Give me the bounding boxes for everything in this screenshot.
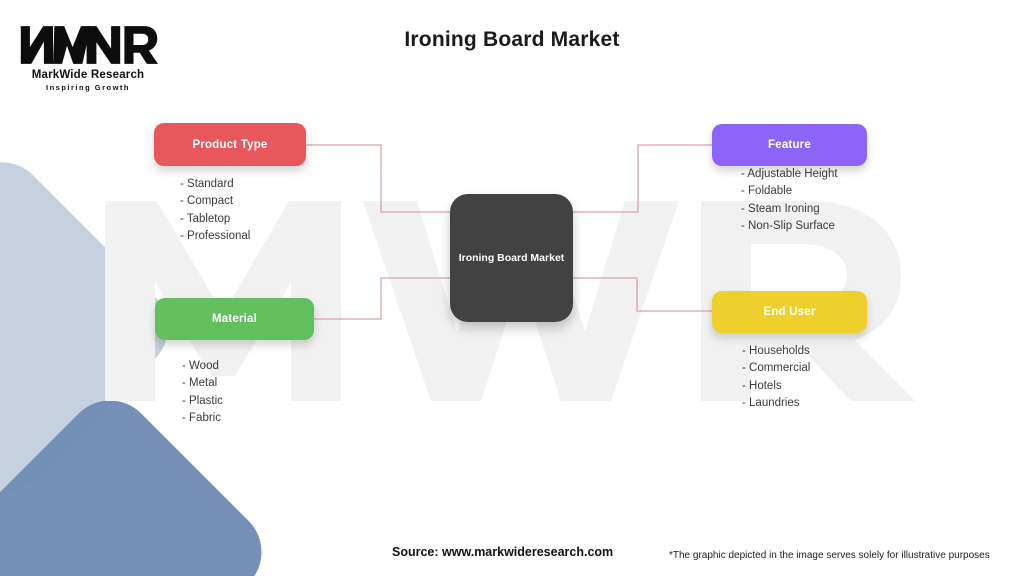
list-item: - Steam Ironing — [741, 201, 838, 218]
list-item: - Professional — [180, 228, 250, 245]
branch-node-product-type[interactable]: Product Type — [154, 123, 306, 166]
branch-list-feature: - Adjustable Height - Foldable - Steam I… — [741, 166, 838, 236]
logo-tagline: Inspiring Growth — [18, 83, 158, 92]
footer-disclaimer: *The graphic depicted in the image serve… — [669, 550, 990, 561]
branch-node-feature[interactable]: Feature — [712, 124, 867, 166]
list-item: - Non-Slip Surface — [741, 218, 838, 235]
logo-company-name: MarkWide Research — [18, 69, 158, 81]
page-title: Ironing Board Market — [0, 28, 1024, 52]
list-item: - Households — [742, 343, 810, 360]
branch-label-material: Material — [212, 313, 257, 325]
list-item: - Hotels — [742, 378, 810, 395]
decorative-square-dark — [0, 382, 280, 576]
connector-product-type-to-center — [306, 145, 450, 212]
footer-source: Source: www.markwideresearch.com — [392, 545, 613, 559]
list-item: - Wood — [182, 358, 223, 375]
branch-list-product-type: - Standard - Compact - Tabletop - Profes… — [180, 176, 250, 246]
list-item: - Metal — [182, 375, 223, 392]
list-item: - Laundries — [742, 395, 810, 412]
connector-material-to-center — [314, 278, 450, 319]
branch-label-feature: Feature — [768, 139, 811, 151]
branch-list-material: - Wood - Metal - Plastic - Fabric — [182, 358, 223, 428]
list-item: - Standard — [180, 176, 250, 193]
center-node-label: Ironing Board Market — [459, 252, 565, 264]
branch-label-product-type: Product Type — [192, 139, 267, 151]
list-item: - Plastic — [182, 393, 223, 410]
list-item: - Commercial — [742, 360, 810, 377]
center-node[interactable]: Ironing Board Market — [450, 194, 573, 322]
list-item: - Fabric — [182, 410, 223, 427]
branch-node-material[interactable]: Material — [155, 298, 314, 340]
list-item: - Tabletop — [180, 211, 250, 228]
branch-node-end-user[interactable]: End User — [712, 291, 867, 333]
branch-list-end-user: - Households - Commercial - Hotels - Lau… — [742, 343, 810, 413]
branch-label-end-user: End User — [763, 306, 815, 318]
connector-center-to-end-user — [573, 278, 712, 311]
diagram-canvas: MarkWide Research Inspiring Growth Ironi… — [0, 0, 1024, 576]
list-item: - Foldable — [741, 183, 838, 200]
list-item: - Compact — [180, 193, 250, 210]
list-item: - Adjustable Height — [741, 166, 838, 183]
connector-center-to-feature — [573, 145, 712, 212]
